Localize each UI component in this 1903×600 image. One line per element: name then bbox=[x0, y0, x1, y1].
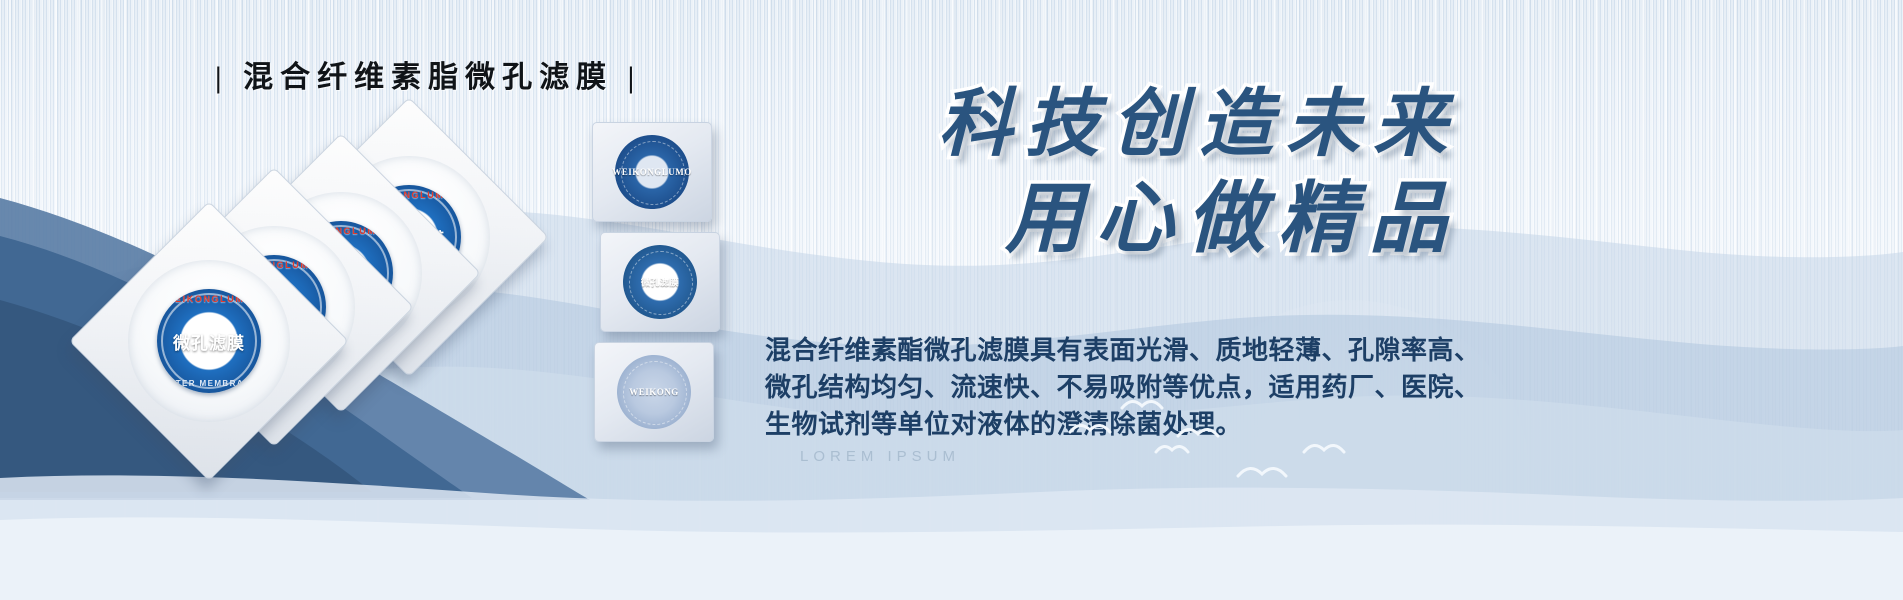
sample-caption: WEIKONG bbox=[595, 387, 713, 397]
label-subtitle-text: FILTER MEMBRANE bbox=[157, 379, 261, 388]
product-photo-group: WEIKONGLUMO 微孔滤膜 FILTER MEMBRANE WEIKONG… bbox=[120, 130, 560, 450]
bird-icon bbox=[1178, 429, 1218, 436]
headline-line-2: 用心做精品 bbox=[780, 180, 1460, 258]
birds-group bbox=[1060, 390, 1380, 500]
product-label: WEIKONGLUMO 微孔滤膜 FILTER MEMBRANE bbox=[157, 289, 261, 393]
watermark-text: LOREM IPSUM bbox=[800, 448, 960, 465]
sample-caption: WEIKONGLUMO bbox=[593, 167, 711, 177]
label-chinese-text: 微孔滤膜 bbox=[173, 329, 245, 354]
section-title: | 混合纤维素脂微孔滤膜 | bbox=[215, 52, 641, 96]
description-line-1: 混合纤维素酯微孔滤膜具有表面光滑、质地轻薄、孔隙率高、 bbox=[765, 333, 1455, 370]
bird-icon bbox=[1304, 445, 1344, 452]
bird-icon bbox=[1238, 468, 1286, 476]
bird-icon bbox=[1070, 425, 1110, 432]
product-banner: | 混合纤维素脂微孔滤膜 | WEIKONGLUMO 微孔滤膜 FILTER M… bbox=[0, 0, 1903, 600]
sample-item: WEIKONGLUMO bbox=[592, 122, 712, 222]
label-brand-text: WEIKONGLUMO bbox=[157, 294, 261, 304]
sample-item: 微孔滤膜 bbox=[600, 232, 720, 332]
bird-icon bbox=[1122, 401, 1162, 408]
headline-line-1: 科技创造未来 bbox=[780, 88, 1460, 162]
sample-item: WEIKONG bbox=[594, 342, 714, 442]
bird-icon bbox=[1156, 446, 1188, 452]
sample-caption: 微孔滤膜 bbox=[601, 276, 719, 289]
sample-photo-group: WEIKONGLUMO 微孔滤膜 WEIKONG bbox=[592, 122, 722, 452]
headline-block: 科技创造未来 用心做精品 bbox=[780, 88, 1460, 258]
